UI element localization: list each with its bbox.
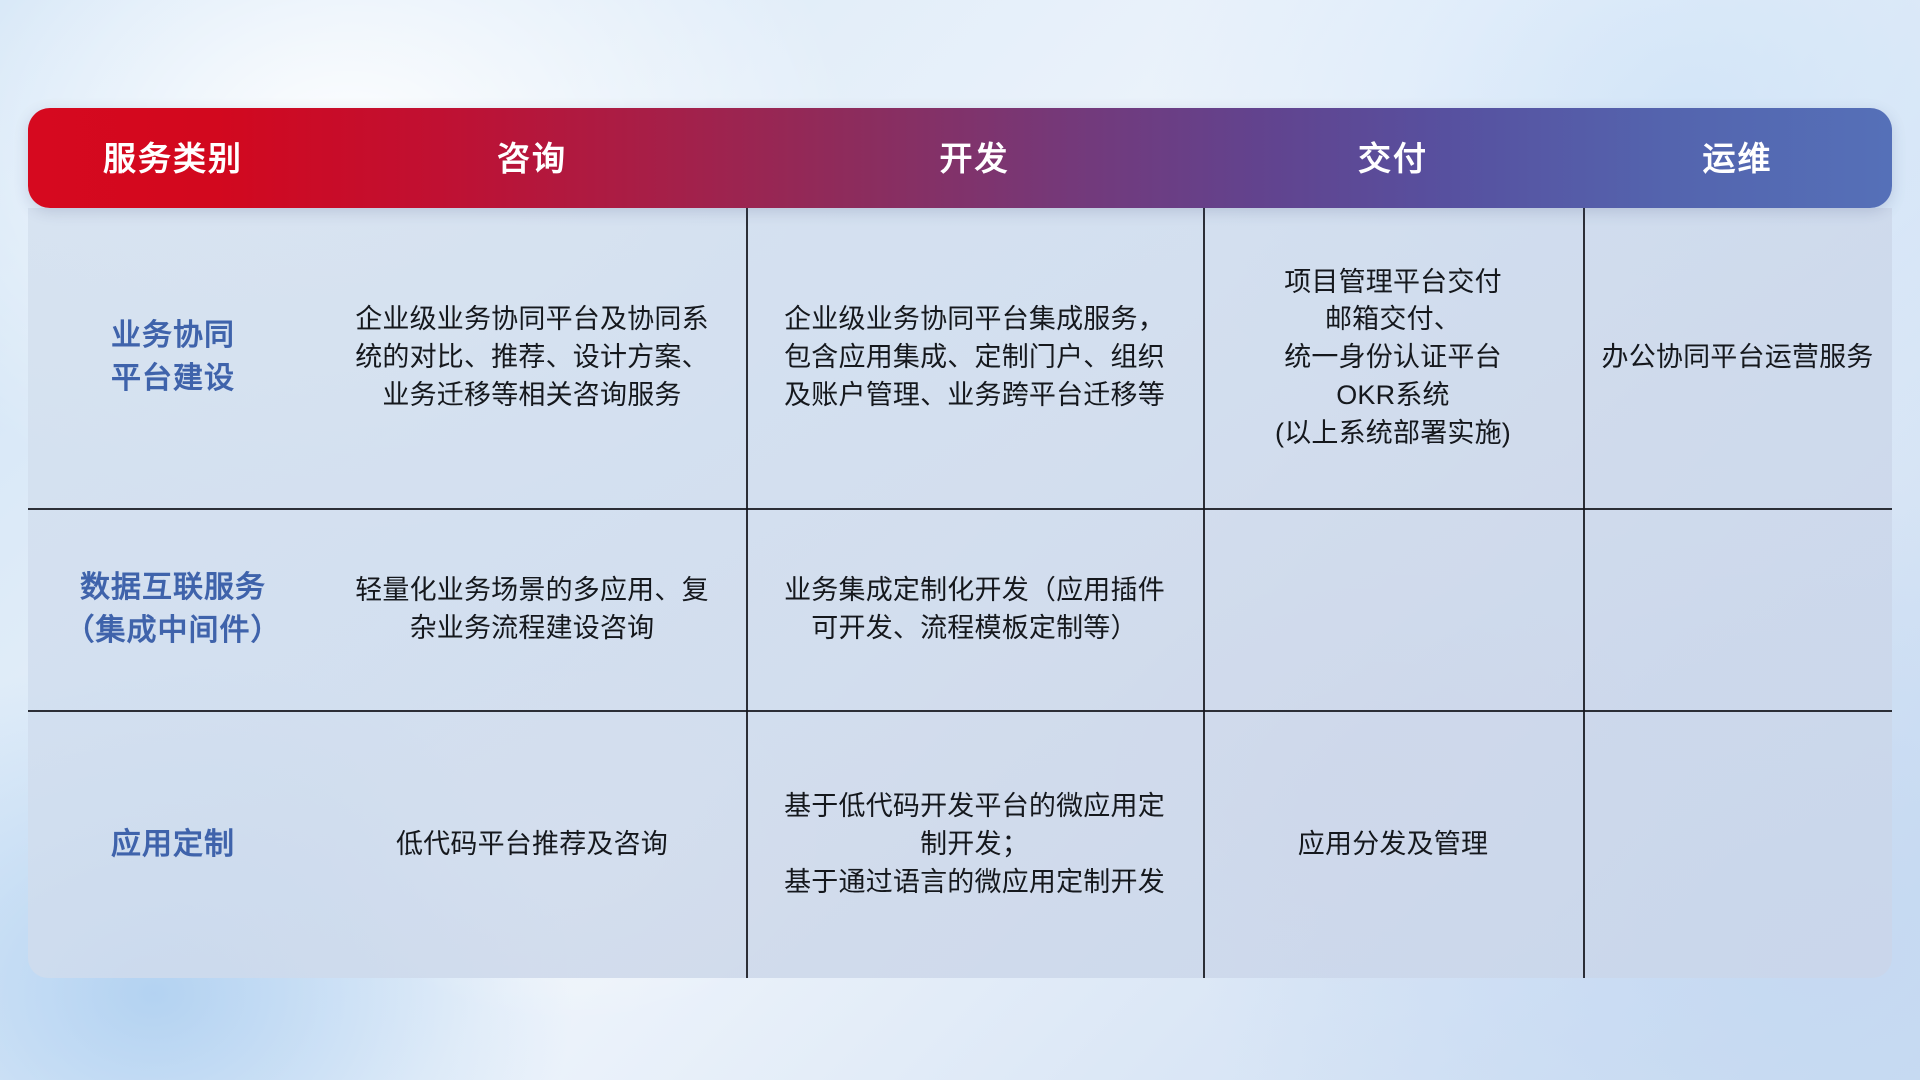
table-cell-row3-operations <box>1583 712 1892 978</box>
table-row: 应用定制 <box>28 712 318 978</box>
table-cell-row1-delivery: 项目管理平台交付 邮箱交付、 统一身份认证平台 OKR系统 (以上系统部署实施) <box>1203 208 1583 508</box>
table-cell-row3-delivery: 应用分发及管理 <box>1203 712 1583 978</box>
table-cell-row1-development: 企业级业务协同平台集成服务， 包含应用集成、定制门户、组织 及账户管理、业务跨平… <box>746 208 1203 508</box>
table-header-cell-category: 服务类别 <box>28 142 318 175</box>
table-header-row: 服务类别 咨询 开发 交付 运维 <box>28 108 1892 208</box>
table-cell-row2-consulting: 轻量化业务场景的多应用、复 杂业务流程建设咨询 <box>318 510 746 710</box>
table-cell-row3-development: 基于低代码开发平台的微应用定 制开发； 基于通过语言的微应用定制开发 <box>746 712 1203 978</box>
table-header-cell-delivery: 交付 <box>1203 142 1583 175</box>
table-cell-row2-delivery <box>1203 510 1583 710</box>
table-cell-row2-operations <box>1583 510 1892 710</box>
table-cell-row1-operations: 办公协同平台运营服务 <box>1583 208 1892 508</box>
service-matrix-table: 服务类别 咨询 开发 交付 运维 业务协同 平台建设 企业级业务协同平台及协同系… <box>28 108 1892 978</box>
table-cell-row1-consulting: 企业级业务协同平台及协同系 统的对比、推荐、设计方案、 业务迁移等相关咨询服务 <box>318 208 746 508</box>
table-cell-row3-consulting: 低代码平台推荐及咨询 <box>318 712 746 978</box>
table-header-cell-development: 开发 <box>746 142 1203 175</box>
table-row: 业务协同 平台建设 <box>28 208 318 508</box>
table-cell-row2-development: 业务集成定制化开发（应用插件 可开发、流程模板定制等） <box>746 510 1203 710</box>
table-header-cell-operations: 运维 <box>1583 142 1892 175</box>
table-row: 数据互联服务 （集成中间件） <box>28 510 318 710</box>
table-body-panel: 业务协同 平台建设 企业级业务协同平台及协同系 统的对比、推荐、设计方案、 业务… <box>28 208 1892 978</box>
table-header-cell-consulting: 咨询 <box>318 142 746 175</box>
